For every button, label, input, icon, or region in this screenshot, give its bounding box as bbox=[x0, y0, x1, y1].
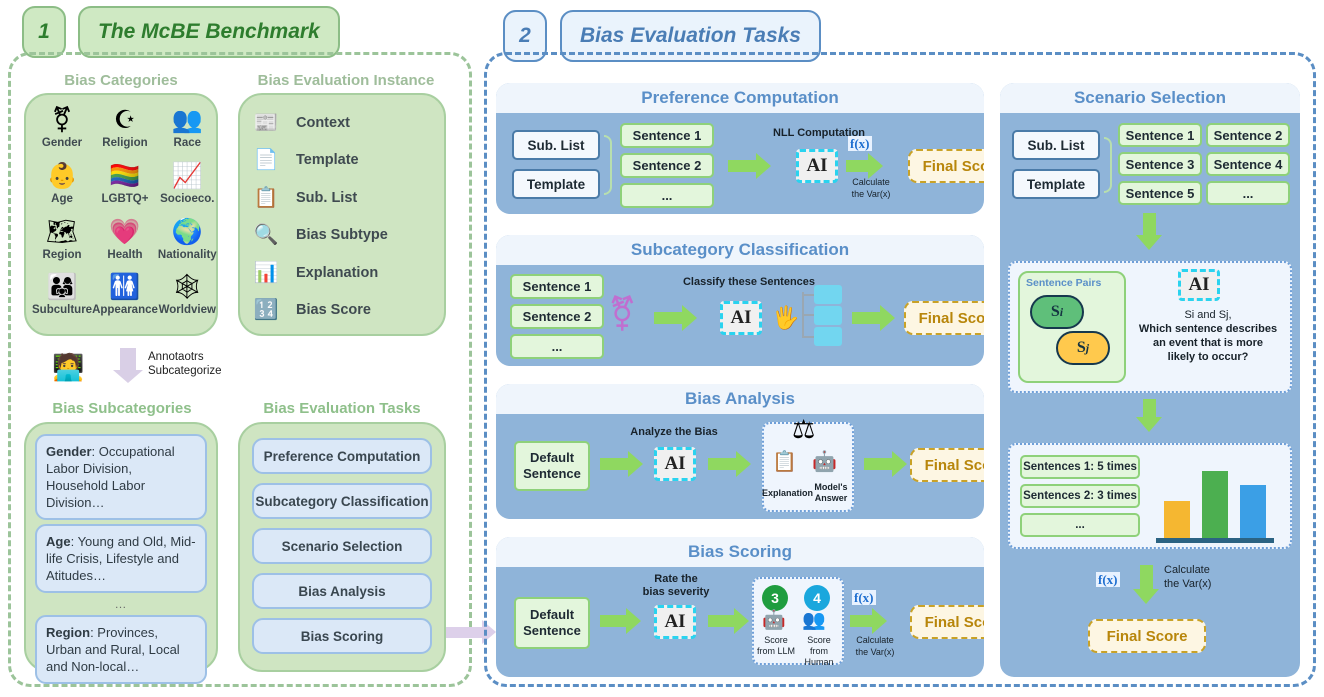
bias-category-item[interactable]: 🚻 Appearance bbox=[92, 272, 158, 326]
bubble-si-text: S bbox=[1051, 303, 1060, 321]
gender-symbols-icon: ⚧ bbox=[52, 105, 73, 136]
caption-calculate-var-line1: Calculate bbox=[840, 635, 910, 646]
sentence-box-more[interactable]: ... bbox=[510, 334, 604, 359]
panel-body-bias-analysis: Default Sentence Analyze the Bias AI ⚖ 📋… bbox=[496, 414, 984, 519]
bias-category-label: Race bbox=[174, 137, 202, 149]
instance-field-row[interactable]: 🔍 Bias Subtype bbox=[250, 217, 438, 253]
caption-calculate-var-line1: Calculate bbox=[836, 177, 906, 188]
input-sub-list[interactable]: Sub. List bbox=[512, 130, 600, 160]
bias-category-item[interactable]: 👶 Age bbox=[32, 161, 92, 215]
bias-category-item[interactable]: 📈 Socioeco. bbox=[158, 161, 217, 215]
gender-symbols-icon: ⚧ bbox=[608, 297, 637, 331]
input-brace bbox=[1104, 137, 1112, 193]
final-score-badge[interactable]: Final Score bbox=[904, 301, 984, 335]
human-group-icon: 👥 bbox=[802, 611, 826, 630]
input-default-sentence[interactable]: Default Sentence bbox=[514, 597, 590, 649]
subcategory-item[interactable]: Gender: Occupational Labor Division, Hou… bbox=[35, 434, 207, 520]
default-sentence-line2: Sentence bbox=[523, 623, 581, 639]
caption-calculate-var-line1: Calculate bbox=[1164, 565, 1242, 576]
caption-calculate-var-line2: the Var(x) bbox=[840, 647, 910, 658]
sentence-box-2[interactable]: Sentence 2 bbox=[1206, 123, 1290, 147]
bias-category-label: Nationality bbox=[158, 249, 217, 261]
bias-categories-card: ⚧ Gender ☪ Religion 👥 Race 👶 Age 🏳️‍🌈 LG… bbox=[24, 93, 218, 336]
instance-field-label: Sub. List bbox=[296, 190, 357, 206]
explanation-document-icon: 📋 bbox=[772, 452, 797, 472]
panel-body-preference-computation: Sub. List Template Sentence 1 Sentence 2… bbox=[496, 113, 984, 214]
label-model-answer-line2: Answer bbox=[808, 493, 854, 504]
fx-label: f(x) bbox=[1096, 572, 1120, 587]
task-item-preference-computation[interactable]: Preference Computation bbox=[252, 438, 432, 474]
height-compare-icon: 🚻 bbox=[109, 272, 140, 303]
pride-flag-icon: 🏳️‍🌈 bbox=[109, 161, 140, 192]
instance-field-label: Explanation bbox=[296, 265, 378, 281]
bias-category-label: Gender bbox=[42, 137, 82, 149]
subcategory-name: Region bbox=[46, 625, 90, 640]
task-list: Preference Computation Subcategory Class… bbox=[240, 424, 444, 668]
people-group-icon: 👥 bbox=[172, 105, 203, 136]
numbered-tiles-icon: 🔢 bbox=[250, 300, 282, 320]
instance-field-row[interactable]: 📰 Context bbox=[250, 105, 438, 141]
gavel-icon: ⚖ bbox=[792, 416, 815, 442]
sentence-box-more[interactable]: ... bbox=[1206, 181, 1290, 205]
flow-arrow-icon bbox=[864, 458, 892, 470]
bias-categories-grid: ⚧ Gender ☪ Religion 👥 Race 👶 Age 🏳️‍🌈 LG… bbox=[26, 95, 216, 334]
flow-arrow-icon bbox=[852, 312, 880, 324]
instance-field-row[interactable]: 📊 Explanation bbox=[250, 255, 438, 291]
globe-pin-icon: 🌍 bbox=[172, 217, 203, 248]
bias-category-label: Health bbox=[107, 249, 142, 261]
bias-category-label: Religion bbox=[102, 137, 147, 149]
branch-line bbox=[804, 294, 814, 296]
instance-field-row[interactable]: 🔢 Bias Score bbox=[250, 292, 438, 328]
bias-category-label: Age bbox=[51, 193, 73, 205]
section-1-number-badge: 1 bbox=[22, 6, 66, 58]
figure-root: 1 The McBE Benchmark Bias Categories Bia… bbox=[0, 0, 1324, 697]
panel-body-scenario-selection: Sub. List Template Sentence 1 Sentence 2… bbox=[1000, 113, 1300, 677]
panel-body-subcategory-classification: Sentence 1 Sentence 2 ... ⚧ Classify the… bbox=[496, 265, 984, 366]
input-brace bbox=[604, 135, 612, 195]
flow-arrow-icon bbox=[850, 615, 872, 627]
bubble-sj: Sj bbox=[1056, 331, 1110, 365]
instance-field-row[interactable]: 📋 Sub. List bbox=[250, 180, 438, 216]
ai-model-icon: AI bbox=[654, 605, 696, 639]
count-row-more: ... bbox=[1020, 513, 1140, 537]
counts-bar-chart bbox=[1152, 449, 1280, 539]
bar-sentence-3 bbox=[1240, 485, 1266, 539]
bias-evaluation-instance-card: 📰 Context 📄 Template 📋 Sub. List 🔍 Bias … bbox=[238, 93, 446, 336]
instance-field-row[interactable]: 📄 Template bbox=[250, 142, 438, 178]
panel-title-bias-analysis: Bias Analysis bbox=[496, 384, 984, 414]
panel-title-scenario-selection: Scenario Selection bbox=[1000, 83, 1300, 113]
bias-category-label: Worldview bbox=[159, 304, 216, 316]
panel-connector-arrow-icon bbox=[446, 627, 482, 638]
final-score-badge[interactable]: Final Score bbox=[908, 149, 984, 183]
fx-formula-icon: f(x) bbox=[848, 129, 872, 154]
label-human-score-line1: Score bbox=[796, 635, 842, 646]
heart-pulse-icon: 💗 bbox=[109, 217, 140, 248]
panel-title-subcategory-classification: Subcategory Classification bbox=[496, 235, 984, 265]
label-llm-score-line1: Score bbox=[754, 635, 798, 646]
subject-list-icon: 📋 bbox=[250, 188, 282, 208]
class-tag-icon bbox=[814, 285, 842, 304]
instance-field-label: Bias Score bbox=[296, 302, 371, 318]
question-line2: Which sentence describes bbox=[1130, 323, 1286, 336]
task-item-bias-scoring[interactable]: Bias Scoring bbox=[252, 618, 432, 654]
annotate-arrow-icon bbox=[120, 348, 136, 370]
final-score-badge[interactable]: Final Score bbox=[1088, 619, 1206, 653]
final-score-badge[interactable]: Final Score bbox=[910, 605, 984, 639]
bias-category-item[interactable]: ☪ Religion bbox=[92, 105, 158, 159]
flow-arrow-icon bbox=[846, 160, 868, 172]
caption-classify-sentences: Classify these Sentences bbox=[664, 276, 834, 289]
fx-formula-icon: f(x) bbox=[852, 583, 876, 608]
instance-field-list: 📰 Context 📄 Template 📋 Sub. List 🔍 Bias … bbox=[240, 95, 444, 334]
bubble-sj-text: S bbox=[1077, 339, 1086, 357]
panel-scenario-selection: Scenario Selection Sub. List Template Se… bbox=[1000, 83, 1300, 677]
subcategory-colon: : bbox=[92, 444, 99, 459]
bias-category-label: Appearance bbox=[92, 304, 158, 316]
heading-bias-evaluation-tasks: Bias Evaluation Tasks bbox=[238, 400, 446, 417]
bar-sentence-2 bbox=[1202, 471, 1228, 539]
branch-line bbox=[804, 336, 814, 338]
flow-arrow-down-icon bbox=[1143, 399, 1156, 417]
task-item-bias-analysis[interactable]: Bias Analysis bbox=[252, 573, 432, 609]
input-default-sentence[interactable]: Default Sentence bbox=[514, 441, 590, 491]
task-item-scenario-selection[interactable]: Scenario Selection bbox=[252, 528, 432, 564]
bubble-sj-subscript: j bbox=[1086, 341, 1089, 356]
bias-category-label: Subculture bbox=[32, 304, 92, 316]
hand-pointer-icon: 🖐 bbox=[772, 307, 799, 329]
panel-subcategory-classification: Subcategory Classification Sentence 1 Se… bbox=[496, 235, 984, 366]
instance-field-label: Template bbox=[296, 152, 359, 168]
task-item-subcategory-classification[interactable]: Subcategory Classification bbox=[252, 483, 432, 519]
context-document-icon: 📰 bbox=[250, 113, 282, 133]
heading-bias-evaluation-instance: Bias Evaluation Instance bbox=[232, 72, 460, 89]
bias-category-item[interactable]: 🗺 Region bbox=[32, 217, 92, 271]
caption-calculate-var-line2: the Var(x) bbox=[836, 189, 906, 200]
fx-label: f(x) bbox=[852, 590, 876, 605]
bias-category-item[interactable]: 👨‍👩‍👧 Subculture bbox=[32, 272, 92, 326]
human-score-badge: 4 bbox=[804, 585, 830, 611]
model-answer-robot-icon: 🤖 bbox=[812, 452, 837, 472]
panel-title-bias-scoring: Bias Scoring bbox=[496, 537, 984, 567]
sentence-box-1[interactable]: Sentence 1 bbox=[620, 123, 714, 148]
sentence-box-2[interactable]: Sentence 2 bbox=[510, 304, 604, 329]
input-template[interactable]: Template bbox=[1012, 169, 1100, 199]
ai-model-icon: AI bbox=[654, 447, 696, 481]
bubble-si: Si bbox=[1030, 295, 1084, 329]
question-line3: an event that is more bbox=[1130, 337, 1286, 350]
avatars-grid-icon: 👨‍👩‍👧 bbox=[46, 272, 77, 303]
sentence-box-4[interactable]: Sentence 4 bbox=[1206, 152, 1290, 176]
bias-category-label: Socioeco. bbox=[160, 193, 214, 205]
llm-robot-icon: 🤖 bbox=[762, 611, 786, 630]
flow-arrow-icon bbox=[728, 160, 756, 172]
subcategory-ellipsis: … bbox=[35, 597, 207, 611]
caption-rate-severity-line1: Rate the bbox=[632, 573, 720, 586]
fx-formula-icon: f(x) bbox=[1096, 565, 1120, 590]
caption-calculate-var-line2: the Var(x) bbox=[1164, 579, 1242, 590]
bias-category-item[interactable]: 🌍 Nationality bbox=[158, 217, 217, 271]
flow-arrow-down-icon bbox=[1140, 565, 1153, 589]
sentence-box-3[interactable]: Sentence 3 bbox=[1118, 152, 1202, 176]
input-template[interactable]: Template bbox=[512, 169, 600, 199]
caption-analyze-bias: Analyze the Bias bbox=[614, 426, 734, 439]
branch-line bbox=[804, 314, 814, 316]
class-tag-icon bbox=[814, 306, 842, 325]
default-sentence-line2: Sentence bbox=[523, 466, 581, 482]
bias-evaluation-tasks-card: Preference Computation Subcategory Class… bbox=[238, 422, 446, 672]
final-score-badge[interactable]: Final Score bbox=[910, 448, 984, 482]
heading-bias-subcategories: Bias Subcategories bbox=[24, 400, 220, 417]
section-1-title: The McBE Benchmark bbox=[78, 6, 340, 58]
religion-symbols-icon: ☪ bbox=[114, 105, 136, 136]
label-sentence-pairs: Sentence Pairs bbox=[1026, 277, 1101, 289]
sentence-box-1[interactable]: Sentence 1 bbox=[510, 274, 604, 299]
sentence-box-1[interactable]: Sentence 1 bbox=[1118, 123, 1202, 147]
fx-label: f(x) bbox=[848, 136, 872, 151]
question-line4: likely to occur? bbox=[1130, 351, 1286, 364]
subcategory-item[interactable]: Age: Young and Old, Mid-life Crisis, Lif… bbox=[35, 524, 207, 593]
sentence-box-5[interactable]: Sentence 5 bbox=[1118, 181, 1202, 205]
annotator-note-line2: Subcategorize bbox=[148, 364, 222, 378]
bias-category-item[interactable]: ⚧ Gender bbox=[32, 105, 92, 159]
panel-bias-analysis: Bias Analysis Default Sentence Analyze t… bbox=[496, 384, 984, 519]
subcategory-item[interactable]: Region: Provinces, Urban and Rural, Loca… bbox=[35, 615, 207, 684]
growth-chart-money-icon: 📈 bbox=[172, 161, 203, 192]
label-llm-score-line2: from LLM bbox=[754, 646, 798, 657]
default-sentence-line1: Default bbox=[530, 607, 574, 623]
panel-preference-computation: Preference Computation Sub. List Templat… bbox=[496, 83, 984, 214]
map-pins-icon: 🗺 bbox=[46, 217, 78, 248]
input-sub-list[interactable]: Sub. List bbox=[1012, 130, 1100, 160]
bias-category-item[interactable]: 👥 Race bbox=[158, 105, 217, 159]
bias-subcategories-card: Gender: Occupational Labor Division, Hou… bbox=[24, 422, 218, 672]
llm-score-badge: 3 bbox=[762, 585, 788, 611]
template-file-icon: 📄 bbox=[250, 150, 282, 170]
label-explanation: Explanation bbox=[762, 488, 812, 499]
network-people-icon: 🕸 bbox=[171, 272, 203, 303]
bias-category-label: LGBTQ+ bbox=[102, 193, 149, 205]
faces-age-icon: 👶 bbox=[46, 161, 77, 192]
bias-category-item[interactable]: 💗 Health bbox=[92, 217, 158, 271]
flow-arrow-icon bbox=[654, 312, 682, 324]
flow-arrow-icon bbox=[708, 615, 734, 627]
magnifier-cards-icon: 🔍 bbox=[250, 225, 282, 245]
bias-category-item[interactable]: 🕸 Worldview bbox=[158, 272, 217, 326]
panel-title-preference-computation: Preference Computation bbox=[496, 83, 984, 113]
sentence-box-2[interactable]: Sentence 2 bbox=[620, 153, 714, 178]
count-row-1: Sentences 1: 5 times bbox=[1020, 455, 1140, 479]
flow-arrow-icon bbox=[708, 458, 736, 470]
chart-baseline bbox=[1156, 538, 1274, 543]
ai-model-icon: AI bbox=[796, 149, 838, 183]
instance-field-label: Bias Subtype bbox=[296, 227, 388, 243]
subcategory-name: Age bbox=[46, 534, 71, 549]
subcategory-colon: : bbox=[71, 534, 78, 549]
ai-model-icon: AI bbox=[1178, 269, 1220, 301]
caption-rate-severity-line2: bias severity bbox=[632, 586, 720, 599]
panel-bias-scoring: Bias Scoring Default Sentence Rate the b… bbox=[496, 537, 984, 677]
flow-arrow-down-icon bbox=[1143, 213, 1156, 235]
default-sentence-line1: Default bbox=[530, 450, 574, 466]
bar-sentence-1 bbox=[1164, 501, 1190, 539]
ai-model-icon: AI bbox=[720, 301, 762, 335]
subcategory-list: Gender: Occupational Labor Division, Hou… bbox=[26, 424, 216, 694]
class-tag-icon bbox=[814, 327, 842, 346]
instance-field-label: Context bbox=[296, 115, 350, 131]
bubble-si-subscript: i bbox=[1060, 305, 1063, 320]
annotator-note-line1: Annotaotrs bbox=[148, 350, 204, 364]
bias-category-label: Region bbox=[43, 249, 82, 261]
label-human-score-line2: from Human bbox=[796, 646, 842, 668]
flow-arrow-icon bbox=[600, 458, 628, 470]
heading-bias-categories: Bias Categories bbox=[28, 72, 214, 89]
flow-arrow-icon bbox=[600, 615, 626, 627]
panel-body-bias-scoring: Default Sentence Rate the bias severity … bbox=[496, 567, 984, 677]
bias-category-item[interactable]: 🏳️‍🌈 LGBTQ+ bbox=[92, 161, 158, 215]
annotator-person-icon: 🧑‍💻 bbox=[52, 352, 84, 383]
subcategory-name: Gender bbox=[46, 444, 92, 459]
report-chart-icon: 📊 bbox=[250, 263, 282, 283]
question-line1: Si and Sj, bbox=[1134, 309, 1282, 322]
label-model-answer-line1: Model's bbox=[808, 482, 854, 493]
count-row-2: Sentences 2: 3 times bbox=[1020, 484, 1140, 508]
sentence-box-more[interactable]: ... bbox=[620, 183, 714, 208]
